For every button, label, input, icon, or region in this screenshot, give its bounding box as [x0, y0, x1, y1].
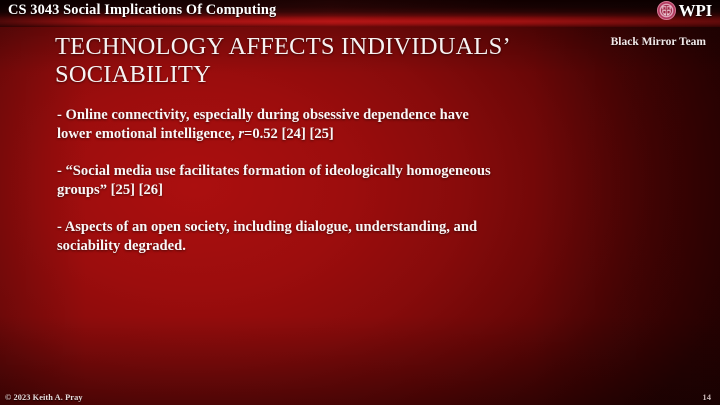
bullet-text-pre: - Aspects of an open society, including …	[57, 219, 477, 254]
wpi-wordmark: WPI	[679, 1, 712, 20]
footer-copyright: © 2023 Keith A. Pray	[5, 393, 83, 402]
course-title: CS 3043 Social Implications Of Computing	[8, 2, 276, 19]
slide-body: - Online connectivity, especially during…	[57, 106, 497, 256]
bullet-item: - “Social media use facilitates formatio…	[57, 162, 497, 200]
wpi-logo: WPI	[657, 1, 712, 20]
bullet-item: - Online connectivity, especially during…	[57, 106, 497, 144]
slide-title: TECHNOLOGY AFFECTS INDIVIDUALS’ SOCIABIL…	[55, 33, 575, 90]
slide-title-line-1: TECHNOLOGY AFFECTS INDIVIDUALS’	[55, 33, 575, 61]
slide-title-line-2: SOCIABILITY	[55, 61, 575, 89]
bullet-text-post: =0.52 [24] [25]	[244, 126, 334, 142]
bullet-text-pre: - “Social media use facilitates formatio…	[57, 163, 491, 198]
team-name: Black Mirror Team	[611, 36, 706, 48]
slide-page-number: 14	[702, 392, 711, 402]
wpi-seal-icon	[657, 1, 676, 20]
bullet-item: - Aspects of an open society, including …	[57, 218, 497, 256]
presentation-slide: CS 3043 Social Implications Of Computing…	[0, 0, 720, 405]
